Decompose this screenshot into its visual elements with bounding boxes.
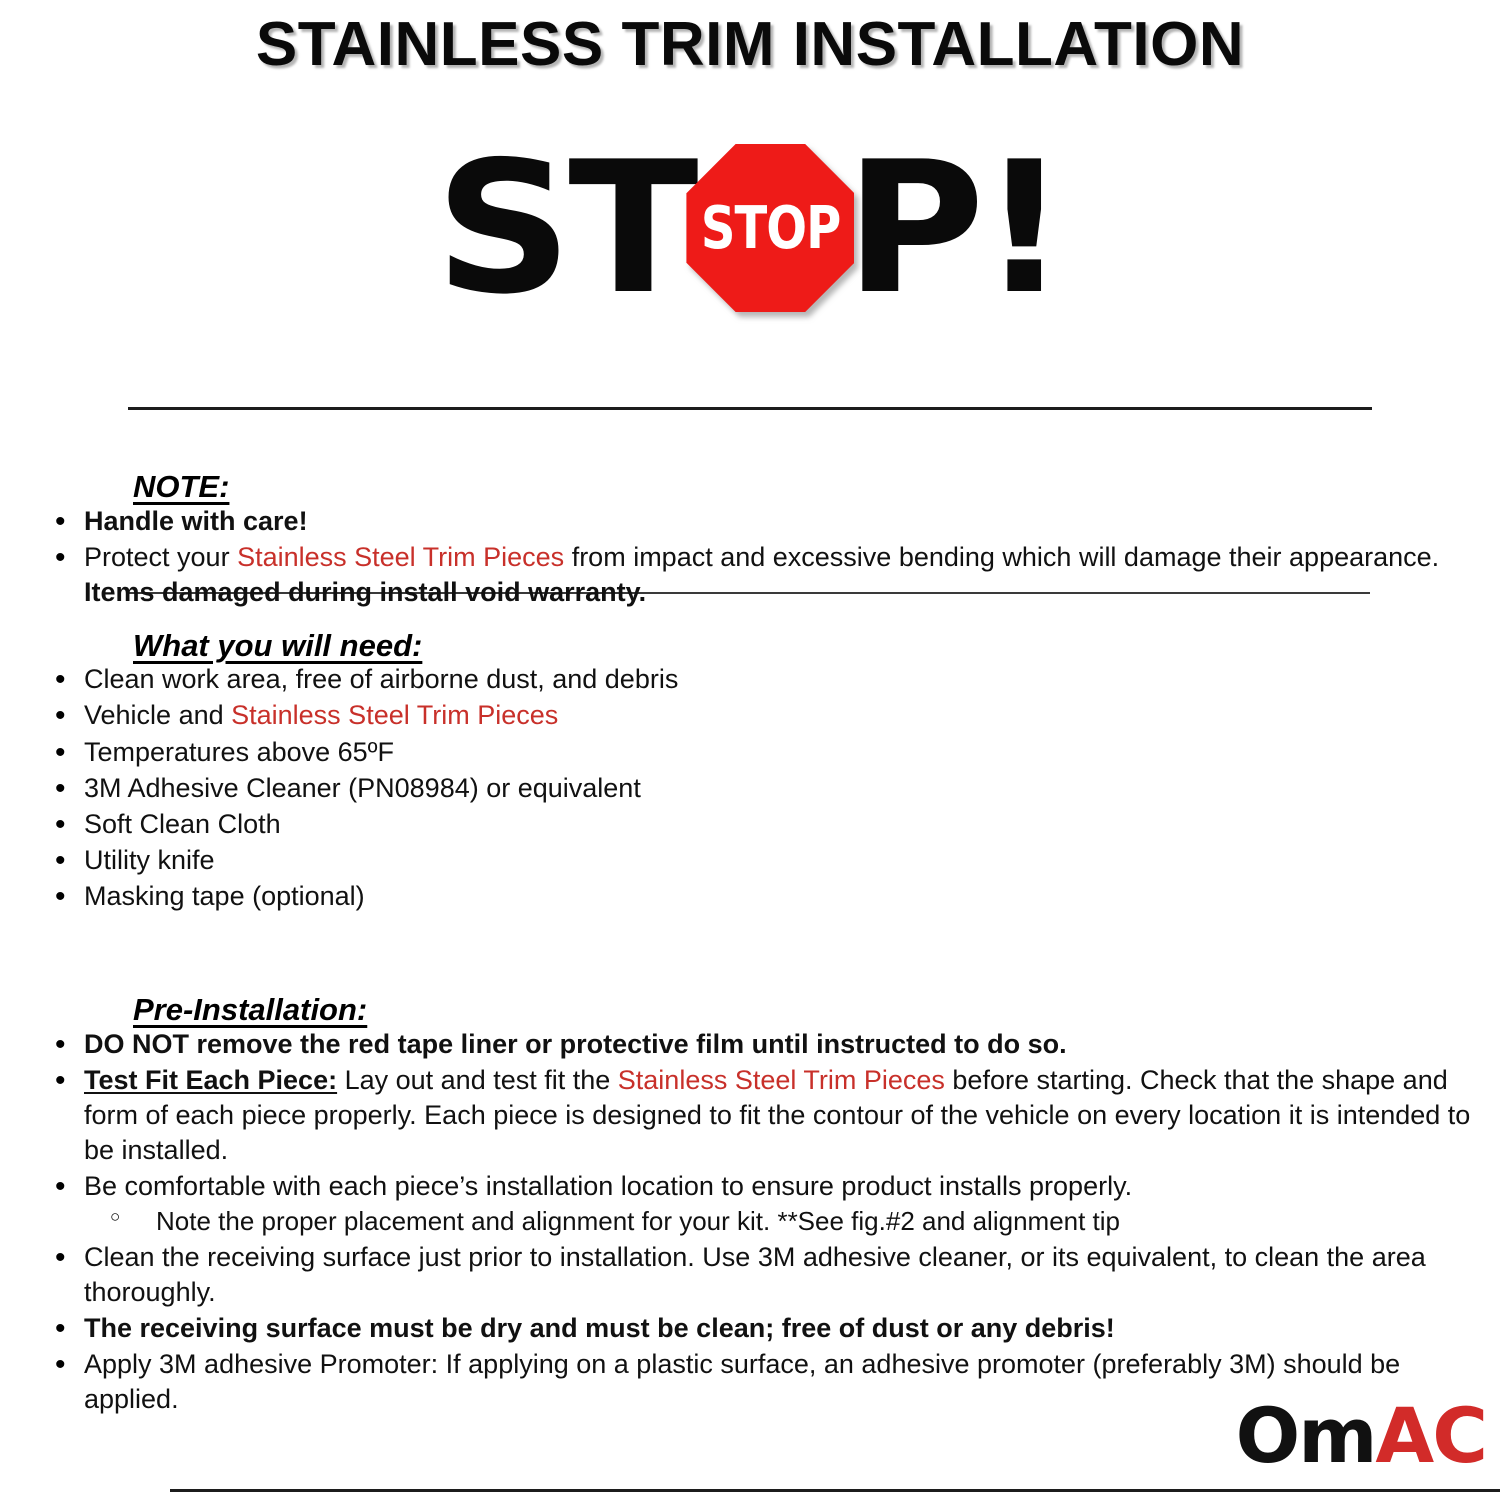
preinstall-heading: Pre-Installation: — [133, 994, 1500, 1027]
omac-logo-dark-text: Om — [1236, 1391, 1376, 1480]
text-segment: The receiving surface must be dry and mu… — [84, 1313, 1115, 1343]
note-bullet-list: Handle with care!Protect your Stainless … — [0, 504, 1500, 610]
list-item: Be comfortable with each piece’s install… — [0, 1169, 1500, 1204]
list-item: Temperatures above 65ºF — [0, 735, 1500, 770]
list-item: Masking tape (optional) — [0, 879, 1500, 914]
stop-sign-label: STOP — [701, 199, 840, 258]
list-item: 3M Adhesive Cleaner (PN08984) or equival… — [0, 771, 1500, 806]
list-item: Utility knife — [0, 843, 1500, 878]
stop-sign-icon: STOP — [686, 144, 854, 312]
stop-letters-left: ST — [435, 137, 695, 319]
list-item: Vehicle and Stainless Steel Trim Pieces — [0, 698, 1500, 733]
needs-heading: What you will need: — [133, 630, 1500, 663]
text-segment: Stainless Steel Trim Pieces — [237, 542, 564, 572]
text-segment: Temperatures above 65ºF — [84, 737, 394, 767]
text-segment: Items damaged during install void warran… — [84, 577, 646, 607]
preinstall-bullet-list: DO NOT remove the red tape liner or prot… — [0, 1027, 1500, 1418]
list-item: The receiving surface must be dry and mu… — [0, 1311, 1500, 1346]
text-segment: Masking tape (optional) — [84, 881, 365, 911]
text-segment: Clean the receiving surface just prior t… — [84, 1242, 1426, 1307]
sub-list-wrapper: Note the proper placement and alignment … — [0, 1205, 1500, 1239]
text-segment: Be comfortable with each piece’s install… — [84, 1171, 1132, 1201]
omac-logo: OmAC — [1236, 1398, 1486, 1474]
text-segment: from impact and excessive bending which … — [564, 542, 1439, 572]
stop-letters-right: P! — [845, 137, 1064, 319]
text-segment: Apply 3M adhesive Promoter: If applying … — [84, 1349, 1400, 1414]
list-item: Clean work area, free of airborne dust, … — [0, 662, 1500, 697]
text-segment: Vehicle and — [84, 700, 231, 730]
omac-logo-red-text: AC — [1375, 1391, 1486, 1480]
text-segment: Utility knife — [84, 845, 215, 875]
text-segment: DO NOT remove the red tape liner or prot… — [84, 1029, 1067, 1059]
text-segment: Note the proper placement and alignment … — [156, 1206, 1120, 1236]
list-item: DO NOT remove the red tape liner or prot… — [0, 1027, 1500, 1062]
text-segment: Clean work area, free of airborne dust, … — [84, 664, 678, 694]
text-segment: Stainless Steel Trim Pieces — [231, 700, 558, 730]
list-item: Clean the receiving surface just prior t… — [0, 1240, 1500, 1310]
text-segment: Handle with care! — [84, 506, 308, 536]
sub-list-item: Note the proper placement and alignment … — [84, 1205, 1500, 1239]
note-section: NOTE: Handle with care!Protect your Stai… — [0, 471, 1500, 610]
text-segment: Lay out and test fit the — [337, 1065, 618, 1095]
needs-bullet-list: Clean work area, free of airborne dust, … — [0, 662, 1500, 914]
text-segment: Test Fit Each Piece: — [84, 1065, 337, 1095]
list-item: Protect your Stainless Steel Trim Pieces… — [0, 540, 1500, 610]
stop-graphic: ST STOP P! — [0, 128, 1500, 328]
text-segment: Stainless Steel Trim Pieces — [618, 1065, 945, 1095]
divider-top — [128, 407, 1372, 410]
document-body: NOTE: Handle with care!Protect your Stai… — [0, 425, 1500, 1418]
text-segment: Protect your — [84, 542, 237, 572]
note-heading: NOTE: — [133, 471, 1500, 504]
list-item: Test Fit Each Piece: Lay out and test fi… — [0, 1063, 1500, 1168]
text-segment: Soft Clean Cloth — [84, 809, 281, 839]
text-segment: 3M Adhesive Cleaner (PN08984) or equival… — [84, 773, 641, 803]
list-item: Soft Clean Cloth — [0, 807, 1500, 842]
needs-section: What you will need: Clean work area, fre… — [0, 630, 1500, 914]
stop-octagon: STOP — [686, 144, 854, 312]
sub-bullet-list: Note the proper placement and alignment … — [84, 1205, 1500, 1239]
preinstall-section: Pre-Installation: DO NOT remove the red … — [0, 994, 1500, 1417]
page-title: STAINLESS TRIM INSTALLATION — [0, 0, 1500, 76]
list-item: Handle with care! — [0, 504, 1500, 539]
divider-bottom — [170, 1489, 1500, 1492]
